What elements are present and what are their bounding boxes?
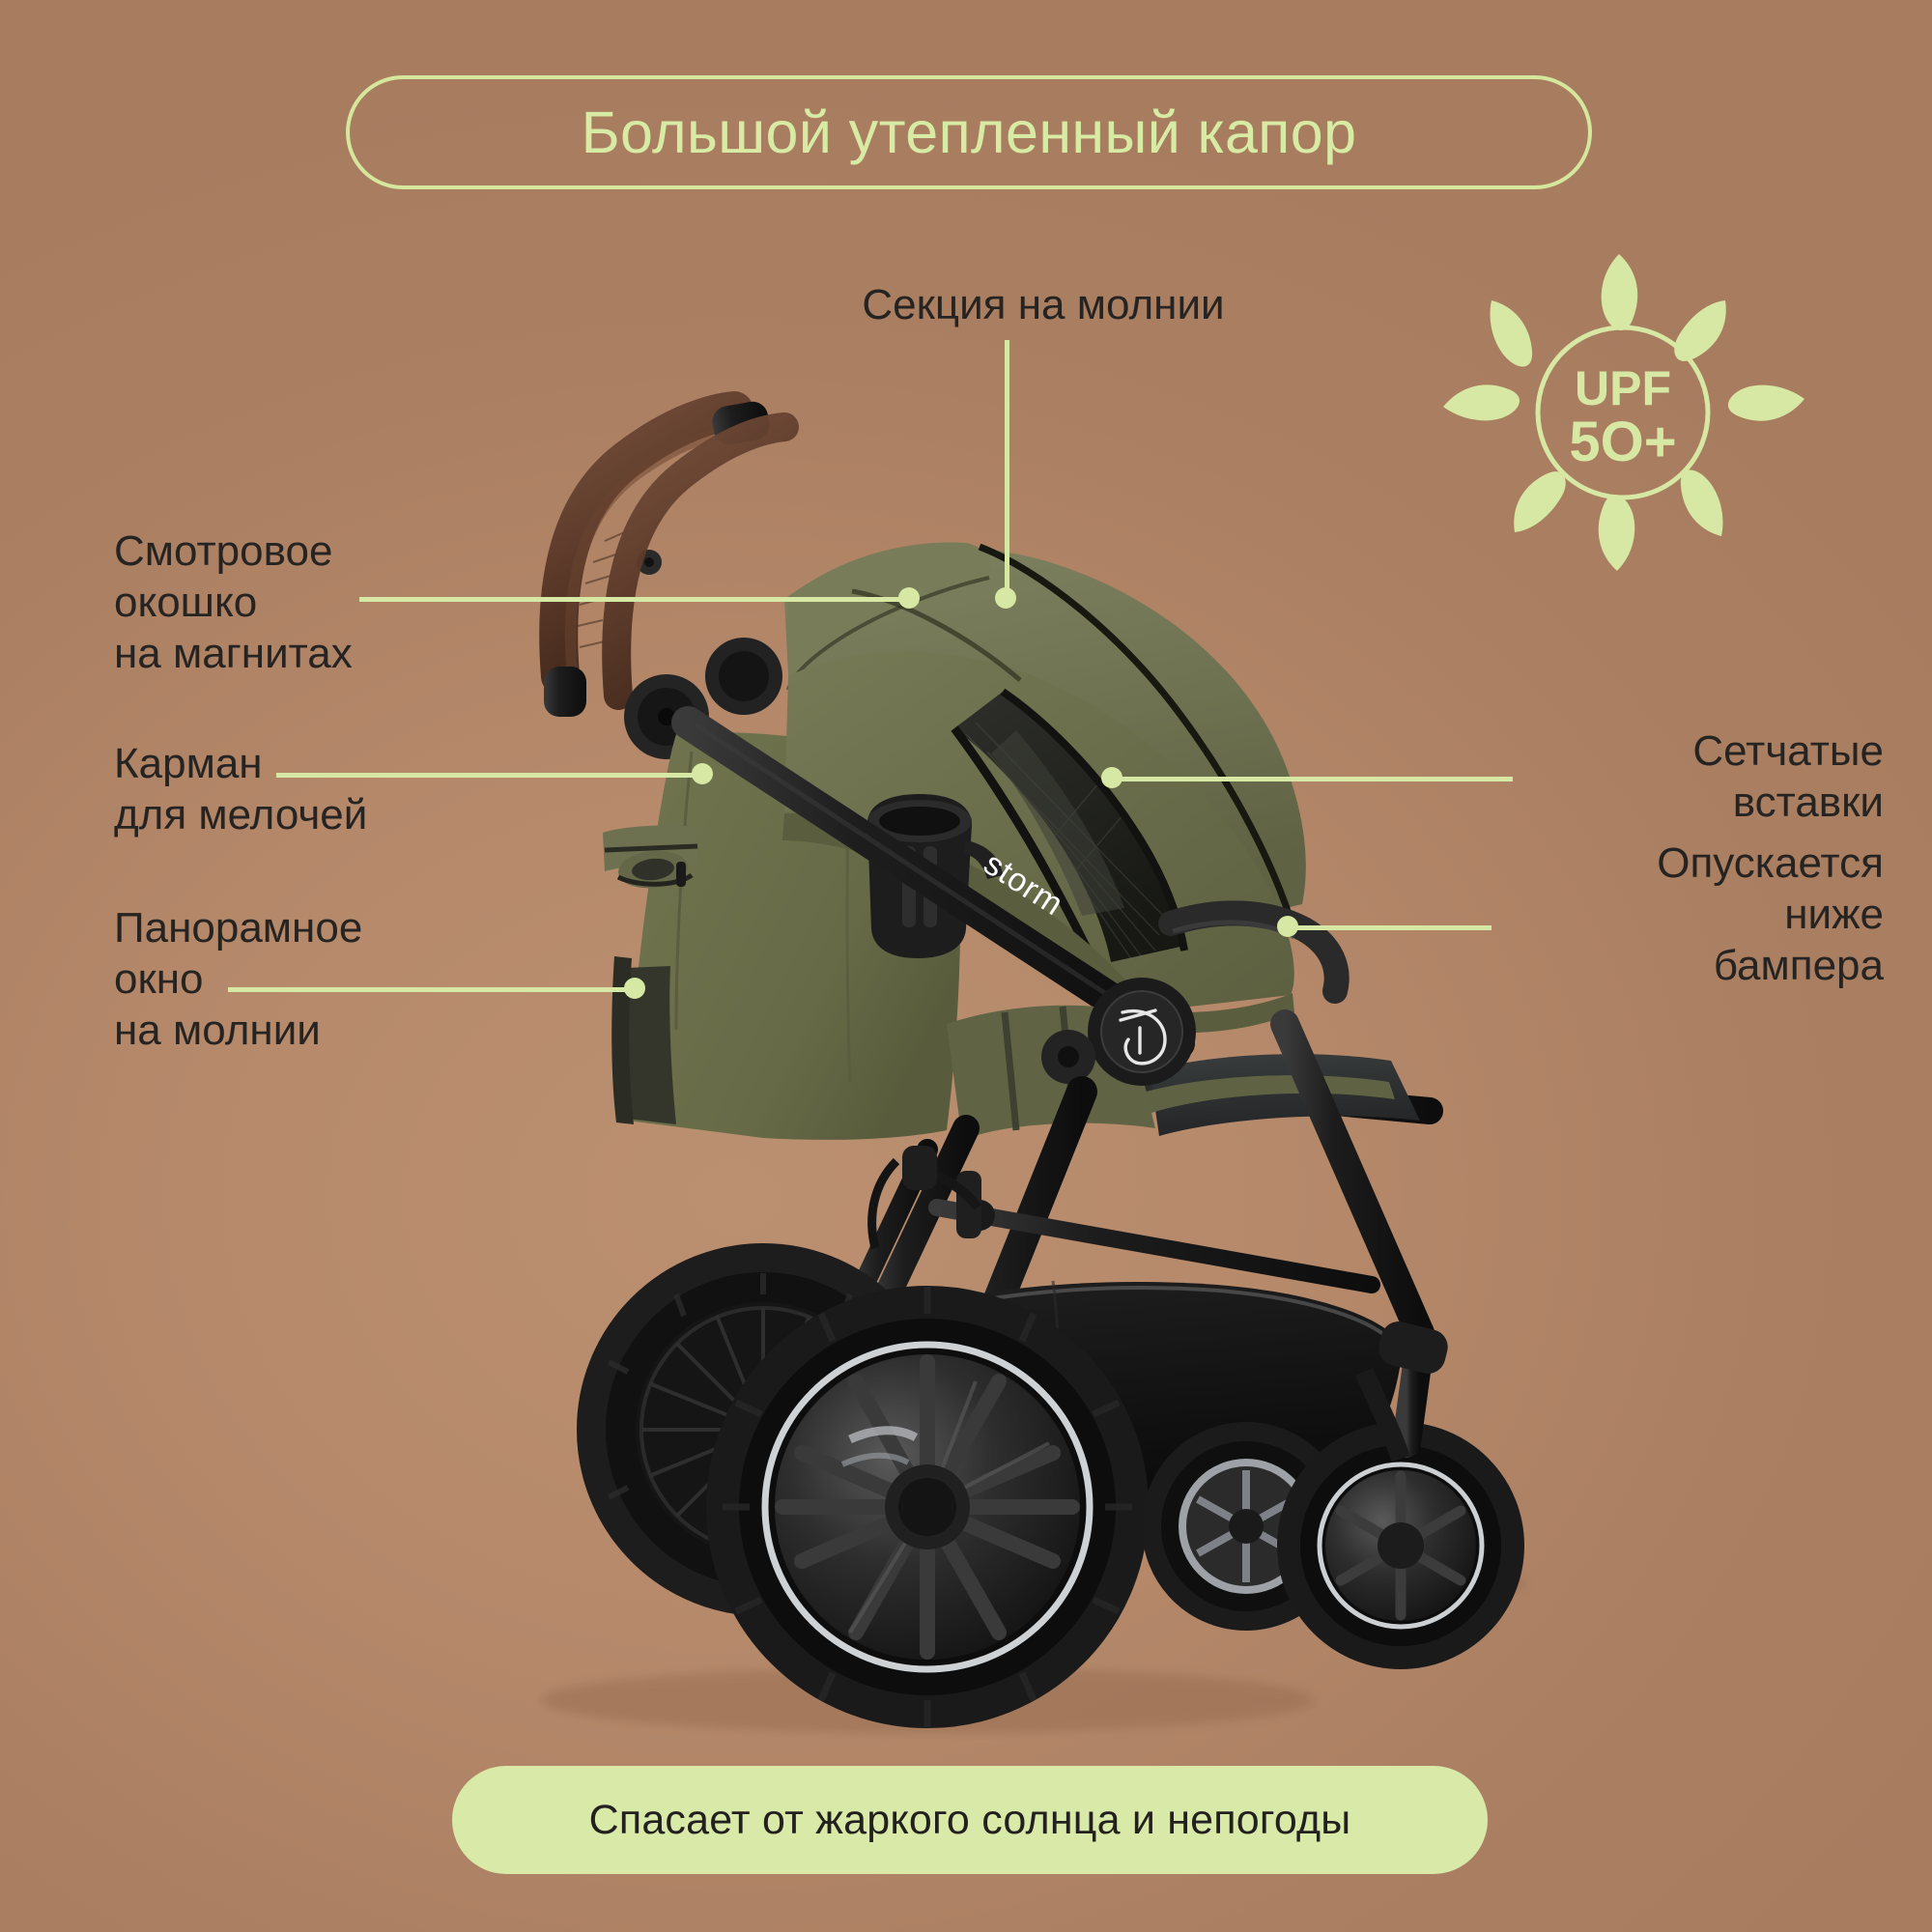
upf-label: UPF — [1575, 361, 1671, 415]
leader-line-mesh — [1111, 777, 1513, 781]
title-banner: Большой утепленный капор — [346, 75, 1592, 189]
callout-label-zipper-section: Секция на молнии — [792, 280, 1294, 331]
leader-dot-window — [898, 587, 920, 609]
upf-sun-badge: UPF 5O+ — [1439, 246, 1816, 580]
page-title: Большой утепленный капор — [582, 99, 1357, 166]
footer-caption-text: Спасает от жаркого солнца и непогоды — [589, 1797, 1351, 1844]
callout-label-mesh-inserts: Сетчатые вставки — [1507, 726, 1884, 829]
callout-label-storage-pocket: Карман для мелочей — [114, 739, 520, 841]
callout-label-lowers-below-bumper: Опускается ниже бампера — [1488, 838, 1884, 991]
infographic-canvas: storm — [0, 0, 1932, 1932]
leader-dot-pocket — [692, 763, 713, 784]
leader-dot-mesh — [1101, 767, 1122, 788]
callout-label-magnetic-window: Смотровое окошко на магнитах — [114, 526, 520, 679]
leader-line-zip — [1005, 340, 1009, 597]
upf-value: 5O+ — [1569, 411, 1676, 473]
callout-label-panoramic-window: Панорамное окно на молнии — [114, 903, 520, 1056]
leader-dot-panorama — [624, 978, 645, 999]
leader-dot-bumper — [1277, 916, 1298, 937]
leader-dot-zip — [995, 587, 1016, 609]
leader-line-bumper — [1287, 925, 1492, 930]
footer-caption-banner: Спасает от жаркого солнца и непогоды — [452, 1766, 1488, 1874]
